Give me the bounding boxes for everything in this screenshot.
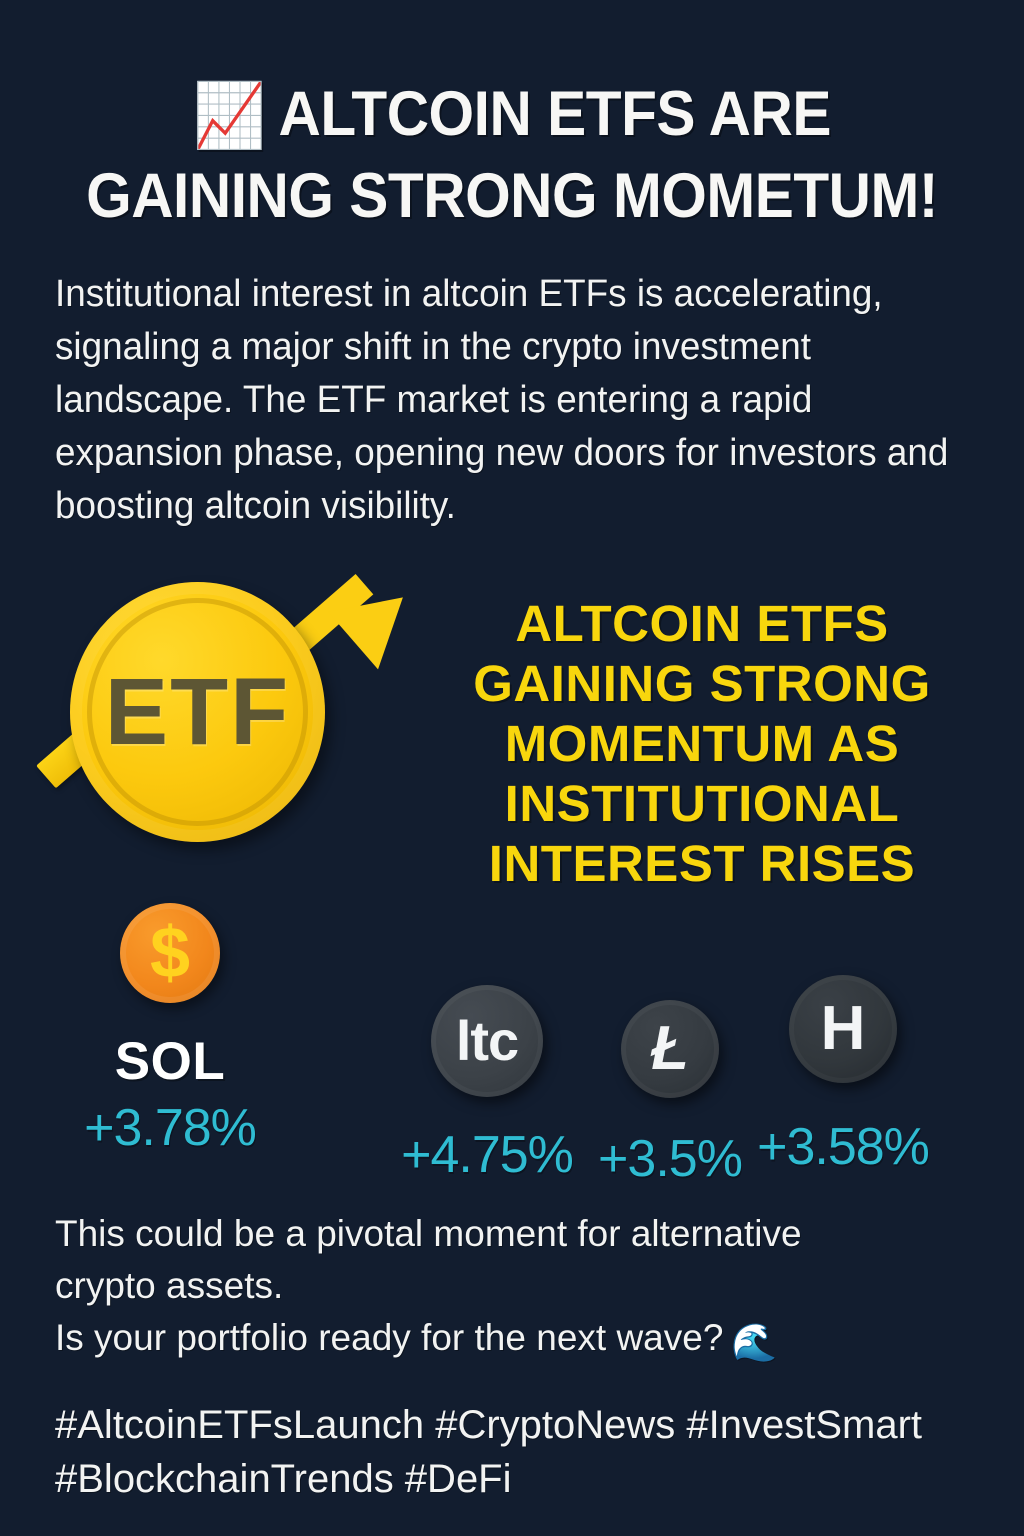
chart-increasing-icon: 📈 xyxy=(193,76,265,156)
hbar-h-coin-icon: H xyxy=(789,975,897,1083)
outro-question-text: Is your portfolio ready for the next wav… xyxy=(55,1317,723,1358)
stat-sol: $ SOL +3.78% xyxy=(60,903,280,1158)
page-title: 📈ALTCOIN ETFS ARE GAINING STRONG MOMETUM… xyxy=(0,74,1024,236)
hashtag-line-1: #AltcoinETFsLaunch #CryptoNews #InvestSm… xyxy=(55,1398,1005,1452)
headline-line-2: GAINING STRONG MOMETUM! xyxy=(53,156,972,236)
infographic-poster: 📈ALTCOIN ETFS ARE GAINING STRONG MOMETUM… xyxy=(0,0,1024,1536)
hero-section: ETF ALTCOIN ETFS GAINING STRONG MOMENTUM… xyxy=(0,560,1024,940)
ltc-text-coin-icon: ltc xyxy=(431,985,543,1097)
etf-gold-coin-magnifier: ETF xyxy=(22,570,422,900)
wave-icon: 🌊 xyxy=(731,1317,777,1369)
hbar-coin-symbol: H xyxy=(821,998,866,1060)
outro-line-3: Is your portfolio ready for the next wav… xyxy=(55,1312,985,1369)
stat-hbar: H +3.58% xyxy=(728,975,958,1177)
sol-coin-symbol: $ xyxy=(150,917,190,989)
outro-text: This could be a pivotal moment for alter… xyxy=(55,1208,985,1369)
outro-line-1: This could be a pivotal moment for alter… xyxy=(55,1208,985,1260)
sol-ticker-label: SOL xyxy=(60,1031,280,1092)
outro-line-2: crypto assets. xyxy=(55,1260,985,1312)
hbar-change-value: +3.58% xyxy=(728,1117,958,1177)
litecoin-coin-symbol: Ł xyxy=(651,1018,689,1080)
etf-coin-label: ETF xyxy=(105,658,290,767)
headline-text-1: ALTCOIN ETFS ARE xyxy=(279,79,831,149)
ltc-coin-symbol: ltc xyxy=(456,1013,518,1069)
litecoin-symbol-coin-icon: Ł xyxy=(621,1000,719,1098)
hero-headline-line-3: MOMENTUM AS xyxy=(412,714,992,774)
hero-headline-line-4: INSTITUTIONAL xyxy=(412,774,992,834)
headline-line-1: 📈ALTCOIN ETFS ARE xyxy=(53,74,972,156)
hashtag-line-2: #BlockchainTrends #DeFi xyxy=(55,1452,1005,1506)
hero-headline-line-2: GAINING STRONG xyxy=(412,654,992,714)
hero-headline: ALTCOIN ETFS GAINING STRONG MOMENTUM AS … xyxy=(412,594,992,894)
hero-headline-line-1: ALTCOIN ETFS xyxy=(412,594,992,654)
sol-change-value: +3.78% xyxy=(60,1098,280,1158)
etf-coin: ETF xyxy=(70,582,325,842)
hashtag-block: #AltcoinETFsLaunch #CryptoNews #InvestSm… xyxy=(55,1398,1005,1506)
intro-paragraph: Institutional interest in altcoin ETFs i… xyxy=(55,268,957,533)
sol-dollar-coin-icon: $ xyxy=(120,903,220,1003)
hero-headline-line-5: INTEREST RISES xyxy=(412,834,992,894)
coin-stats-row: $ SOL +3.78% ltc +4.75% Ł +3.5% H +3.58% xyxy=(0,895,1024,1195)
